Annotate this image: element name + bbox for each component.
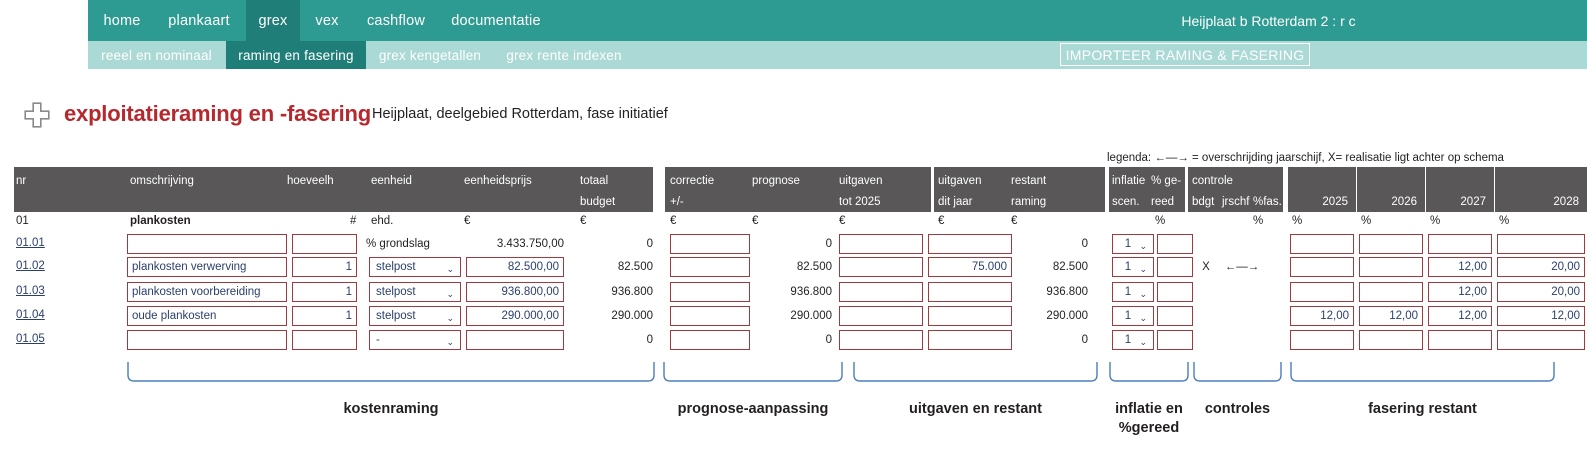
col-header-ctrl_bdgt-line2: bdgt: [1192, 196, 1214, 208]
correctie-input[interactable]: [670, 234, 750, 254]
bracket-controles: [1193, 362, 1282, 382]
hoeveelheid-input[interactable]: [292, 330, 357, 350]
eenheid-select[interactable]: stelpost⌄: [369, 257, 461, 277]
omschrijving-input[interactable]: oude plankosten: [127, 306, 287, 326]
col-header-correctie-line2: +/-: [670, 196, 684, 208]
uitgaven-dit-jaar-input[interactable]: [928, 234, 1012, 254]
percentage-gereed-input[interactable]: [1157, 282, 1193, 302]
unit-eenheidsprijs: €: [464, 215, 470, 227]
col-header-totaal-line2: budget: [580, 196, 615, 208]
percentage-gereed-input[interactable]: [1157, 257, 1193, 277]
row-number-link[interactable]: 01.02: [16, 260, 45, 272]
bracket-label-kostenraming: kostenraming: [127, 400, 655, 419]
eenheid-select[interactable]: stelpost⌄: [369, 306, 461, 326]
nav-item-plankaart[interactable]: plankaart: [156, 0, 242, 41]
inflatie-scenario-select-value: 1: [1125, 310, 1131, 322]
col-header-gereed-line1: % ge-: [1151, 175, 1181, 187]
col-header-eenheidsprijs-line1: eenheidsprijs: [464, 175, 532, 187]
col-header-y2026: 2026: [1357, 196, 1417, 208]
col-header-y2027: 2027: [1426, 196, 1486, 208]
col-header-inflatie-line1: inflatie: [1112, 175, 1145, 187]
hoeveelheid-input[interactable]: [292, 234, 357, 254]
inflatie-scenario-select-value: 1: [1125, 238, 1131, 250]
unit-correctie: €: [670, 215, 676, 227]
unit-hoeveelh: #: [350, 215, 356, 227]
fasering-y2027-input[interactable]: [1428, 234, 1492, 254]
unit-y2027: %: [1430, 215, 1440, 227]
fasering-y2027-input[interactable]: [1428, 330, 1492, 350]
fasering-y2028-input[interactable]: [1497, 234, 1585, 254]
prognose-value: 0: [762, 330, 832, 350]
percentage-gereed-input[interactable]: [1157, 330, 1193, 350]
unit-uitgaven-dit-jaar: €: [938, 215, 944, 227]
fasering-y2025-input[interactable]: [1290, 257, 1354, 277]
row-number-link[interactable]: 01.04: [16, 309, 45, 321]
correctie-input[interactable]: [670, 306, 750, 326]
totaal-budget-value: 82.500: [568, 257, 653, 277]
secondary-navbar-left-gutter: [0, 41, 88, 69]
col-header-y2028: 2028: [1495, 196, 1579, 208]
eenheid-select-value: stelpost: [376, 261, 416, 273]
totaal-budget-value: 0: [568, 330, 653, 350]
unit-y2026: %: [1361, 215, 1371, 227]
col-header-restant-line1: restant: [1011, 175, 1046, 187]
chevron-down-icon[interactable]: ⌄: [1139, 285, 1147, 303]
subnav-item-grex-rente-indexen[interactable]: grex rente indexen: [496, 41, 632, 69]
row-number-link[interactable]: 01.03: [16, 285, 45, 297]
header-band-kostenraming: [14, 167, 653, 212]
restant-raming-value: 936.800: [1018, 282, 1088, 302]
bracket-label-prognose-aanpassing: prognose-aanpassing: [620, 400, 886, 419]
eenheid-grondslag-label: % grondslag: [366, 234, 456, 254]
group-row-name: plankosten: [130, 215, 191, 227]
prognose-value: 290.000: [762, 306, 832, 326]
col-header-correctie-line1: correctie: [670, 175, 714, 187]
uitgaven-dit-jaar-input[interactable]: [928, 282, 1012, 302]
restant-raming-value: 0: [1018, 330, 1088, 350]
col-header-gereed-line2: reed: [1151, 196, 1174, 208]
eenheid-select[interactable]: -⌄: [369, 330, 461, 350]
fasering-y2025-input[interactable]: [1290, 282, 1354, 302]
unit-y2025: %: [1292, 215, 1302, 227]
col-header-uitgaven_tot-line2: tot 2025: [839, 196, 881, 208]
uitgaven-tot-2025-input[interactable]: [839, 257, 923, 277]
fasering-y2028-input[interactable]: [1497, 330, 1585, 350]
percentage-gereed-input[interactable]: [1157, 306, 1193, 326]
unit-nr: 01: [16, 215, 29, 227]
correctie-input[interactable]: [670, 257, 750, 277]
col-header-omschrijving-line1: omschrijving: [130, 175, 194, 187]
fasering-y2025-input[interactable]: [1290, 330, 1354, 350]
app-root: homeplankaartgrexvexcashflowdocumentatie…: [0, 0, 1587, 457]
eenheidsprijs-input[interactable]: 82.500,00: [466, 257, 564, 277]
unit-prognose: €: [752, 215, 758, 227]
hoeveelheid-input[interactable]: 1: [292, 306, 357, 326]
fasering-y2025-input[interactable]: [1290, 234, 1354, 254]
chevron-down-icon[interactable]: ⌄: [446, 260, 454, 278]
restant-raming-value: 290.000: [1018, 306, 1088, 326]
fasering-y2027-input[interactable]: 12,00: [1428, 306, 1492, 326]
fasering-y2026-input[interactable]: [1359, 257, 1423, 277]
chevron-down-icon[interactable]: ⌄: [1139, 260, 1147, 278]
unit-controle-fas: %: [1253, 215, 1263, 227]
chevron-down-icon[interactable]: ⌄: [446, 333, 454, 351]
inflatie-scenario-select-value: 1: [1125, 334, 1131, 346]
col-header-inflatie-line2: scen.: [1112, 196, 1140, 208]
prognose-value: 82.500: [762, 257, 832, 277]
bracket-prognose-aanpassing: [663, 362, 843, 382]
nav-item-documentatie[interactable]: documentatie: [441, 0, 551, 41]
unit-gereed: %: [1155, 215, 1165, 227]
col-header-uitgaven_dit-line2: dit jaar: [938, 196, 973, 208]
uitgaven-dit-jaar-input[interactable]: [928, 306, 1012, 326]
omschrijving-input[interactable]: plankosten verwerving: [127, 257, 287, 277]
fasering-y2026-input[interactable]: [1359, 282, 1423, 302]
omschrijving-input[interactable]: plankosten voorbereiding: [127, 282, 287, 302]
eenheidsprijs-input[interactable]: 290.000,00: [466, 306, 564, 326]
col-header-ctrl_fas-line2: %fas.: [1253, 196, 1282, 208]
totaal-budget-value: 0: [568, 234, 653, 254]
eenheid-select-value: -: [376, 334, 380, 346]
totaal-budget-value: 936.800: [568, 282, 653, 302]
project-title: Heijplaat b Rotterdam 2 : r c: [950, 0, 1587, 41]
restant-raming-value: 0: [1018, 234, 1088, 254]
omschrijving-input[interactable]: [127, 234, 287, 254]
unit-y2028: %: [1499, 215, 1509, 227]
fasering-y2026-input[interactable]: 12,00: [1359, 306, 1423, 326]
nav-item-grex[interactable]: grex: [246, 0, 300, 41]
legend-text: legenda: ←—→ = overschrijding jaarschijf…: [1107, 152, 1504, 164]
col-header-restant-line2: raming: [1011, 196, 1046, 208]
col-header-eenheid-line1: eenheid: [371, 175, 412, 187]
inflatie-scenario-select[interactable]: 1⌄: [1112, 330, 1154, 350]
controle-jaarschijf-marker: ←—→: [1218, 257, 1266, 277]
unit-eenheid: ehd.: [371, 215, 393, 227]
chevron-down-icon[interactable]: ⌄: [446, 285, 454, 303]
unit-uitgaven-tot: €: [839, 215, 845, 227]
controle-bdgt-marker: X: [1192, 257, 1220, 277]
inflatie-scenario-select[interactable]: 1⌄: [1112, 282, 1154, 302]
omschrijving-input[interactable]: [127, 330, 287, 350]
bracket-label-uitgaven-en-restant: uitgaven en restant: [853, 400, 1098, 419]
nav-item-vex[interactable]: vex: [303, 0, 351, 41]
page-subtitle: Heijplaat, deelgebied Rotterdam, fase in…: [372, 106, 668, 122]
restant-raming-value: 82.500: [1018, 257, 1088, 277]
uitgaven-tot-2025-input[interactable]: [839, 282, 923, 302]
header-band-prognose-aanpassing: [665, 167, 931, 212]
col-header-prognose-line1: prognose: [752, 175, 800, 187]
chevron-down-icon[interactable]: ⌄: [446, 309, 454, 327]
nav-item-home[interactable]: home: [88, 0, 156, 41]
bracket-label-inflatie-en: inflatie en %gereed: [1105, 400, 1193, 438]
col-header-hoeveelh-line1: hoeveelh: [287, 175, 334, 187]
bracket-label-fasering-restant: fasering restant: [1290, 400, 1555, 419]
prognose-value: 936.800: [762, 282, 832, 302]
chevron-down-icon[interactable]: ⌄: [1139, 333, 1147, 351]
row-number-link[interactable]: 01.01: [16, 237, 45, 249]
plus-icon[interactable]: [24, 102, 50, 128]
inflatie-scenario-select-value: 1: [1125, 261, 1131, 273]
fasering-y2027-input[interactable]: 12,00: [1428, 282, 1492, 302]
uitgaven-tot-2025-input[interactable]: [839, 306, 923, 326]
uitgaven-dit-jaar-input[interactable]: [928, 330, 1012, 350]
eenheid-select-value: stelpost: [376, 310, 416, 322]
eenheidsprijs-input[interactable]: [466, 330, 564, 350]
navbar-left-gutter: [0, 0, 88, 41]
fasering-y2027-input[interactable]: 12,00: [1428, 257, 1492, 277]
import-raming-fasering-button[interactable]: IMPORTEER RAMING & FASERING: [1060, 43, 1310, 66]
col-header-ctrl_jrschf-line2: jrschf: [1222, 196, 1249, 208]
unit-restant-raming: €: [1011, 215, 1017, 227]
prognose-value: 0: [762, 234, 832, 254]
eenheidsprijs-readonly: 3.433.750,00: [460, 234, 564, 254]
nav-item-cashflow[interactable]: cashflow: [355, 0, 437, 41]
fasering-y2028-input[interactable]: 12,00: [1497, 306, 1585, 326]
page-title: exploitatieraming en -fasering: [64, 101, 371, 127]
col-header-y2025: 2025: [1288, 196, 1348, 208]
col-header-nr-line1: nr: [16, 175, 26, 187]
inflatie-scenario-select[interactable]: 1⌄: [1112, 306, 1154, 326]
eenheidsprijs-input[interactable]: 936.800,00: [466, 282, 564, 302]
eenheid-select[interactable]: stelpost⌄: [369, 282, 461, 302]
fasering-y2026-input[interactable]: [1359, 234, 1423, 254]
inflatie-scenario-select-value: 1: [1125, 286, 1131, 298]
col-header-uitgaven_dit-line1: uitgaven: [938, 175, 981, 187]
chevron-down-icon[interactable]: ⌄: [1139, 237, 1147, 255]
row-number-link[interactable]: 01.05: [16, 333, 45, 345]
hoeveelheid-input[interactable]: 1: [292, 257, 357, 277]
col-header-controle-line1: controle: [1192, 175, 1233, 187]
unit-totaal: €: [580, 215, 586, 227]
subnav-item-raming-en-fasering[interactable]: raming en fasering: [226, 41, 366, 69]
hoeveelheid-input[interactable]: 1: [292, 282, 357, 302]
bracket-label-controles: controles: [1193, 400, 1282, 419]
bracket-kostenraming: [127, 362, 655, 382]
col-header-totaal-line1: totaal: [580, 175, 608, 187]
fasering-y2028-input[interactable]: 20,00: [1497, 282, 1585, 302]
fasering-y2028-input[interactable]: 20,00: [1497, 257, 1585, 277]
inflatie-scenario-select[interactable]: 1⌄: [1112, 257, 1154, 277]
col-header-uitgaven_tot-line1: uitgaven: [839, 175, 882, 187]
eenheid-select-value: stelpost: [376, 286, 416, 298]
correctie-input[interactable]: [670, 330, 750, 350]
subnav-item-reeel-en-nominaal[interactable]: reeel en nominaal: [88, 41, 225, 69]
subnav-item-grex-kengetallen[interactable]: grex kengetallen: [370, 41, 490, 69]
chevron-down-icon[interactable]: ⌄: [1139, 309, 1147, 327]
fasering-y2025-input[interactable]: 12,00: [1290, 306, 1354, 326]
uitgaven-dit-jaar-input[interactable]: 75.000: [928, 257, 1012, 277]
uitgaven-tot-2025-input[interactable]: [839, 234, 923, 254]
bracket-fasering-restant: [1290, 362, 1555, 382]
inflatie-scenario-select[interactable]: 1⌄: [1112, 234, 1154, 254]
bracket-inflatie-en: [1109, 362, 1189, 382]
percentage-gereed-input[interactable]: [1157, 234, 1193, 254]
fasering-y2026-input[interactable]: [1359, 330, 1423, 350]
totaal-budget-value: 290.000: [568, 306, 653, 326]
uitgaven-tot-2025-input[interactable]: [839, 330, 923, 350]
bracket-uitgaven-en-restant: [853, 362, 1098, 382]
correctie-input[interactable]: [670, 282, 750, 302]
